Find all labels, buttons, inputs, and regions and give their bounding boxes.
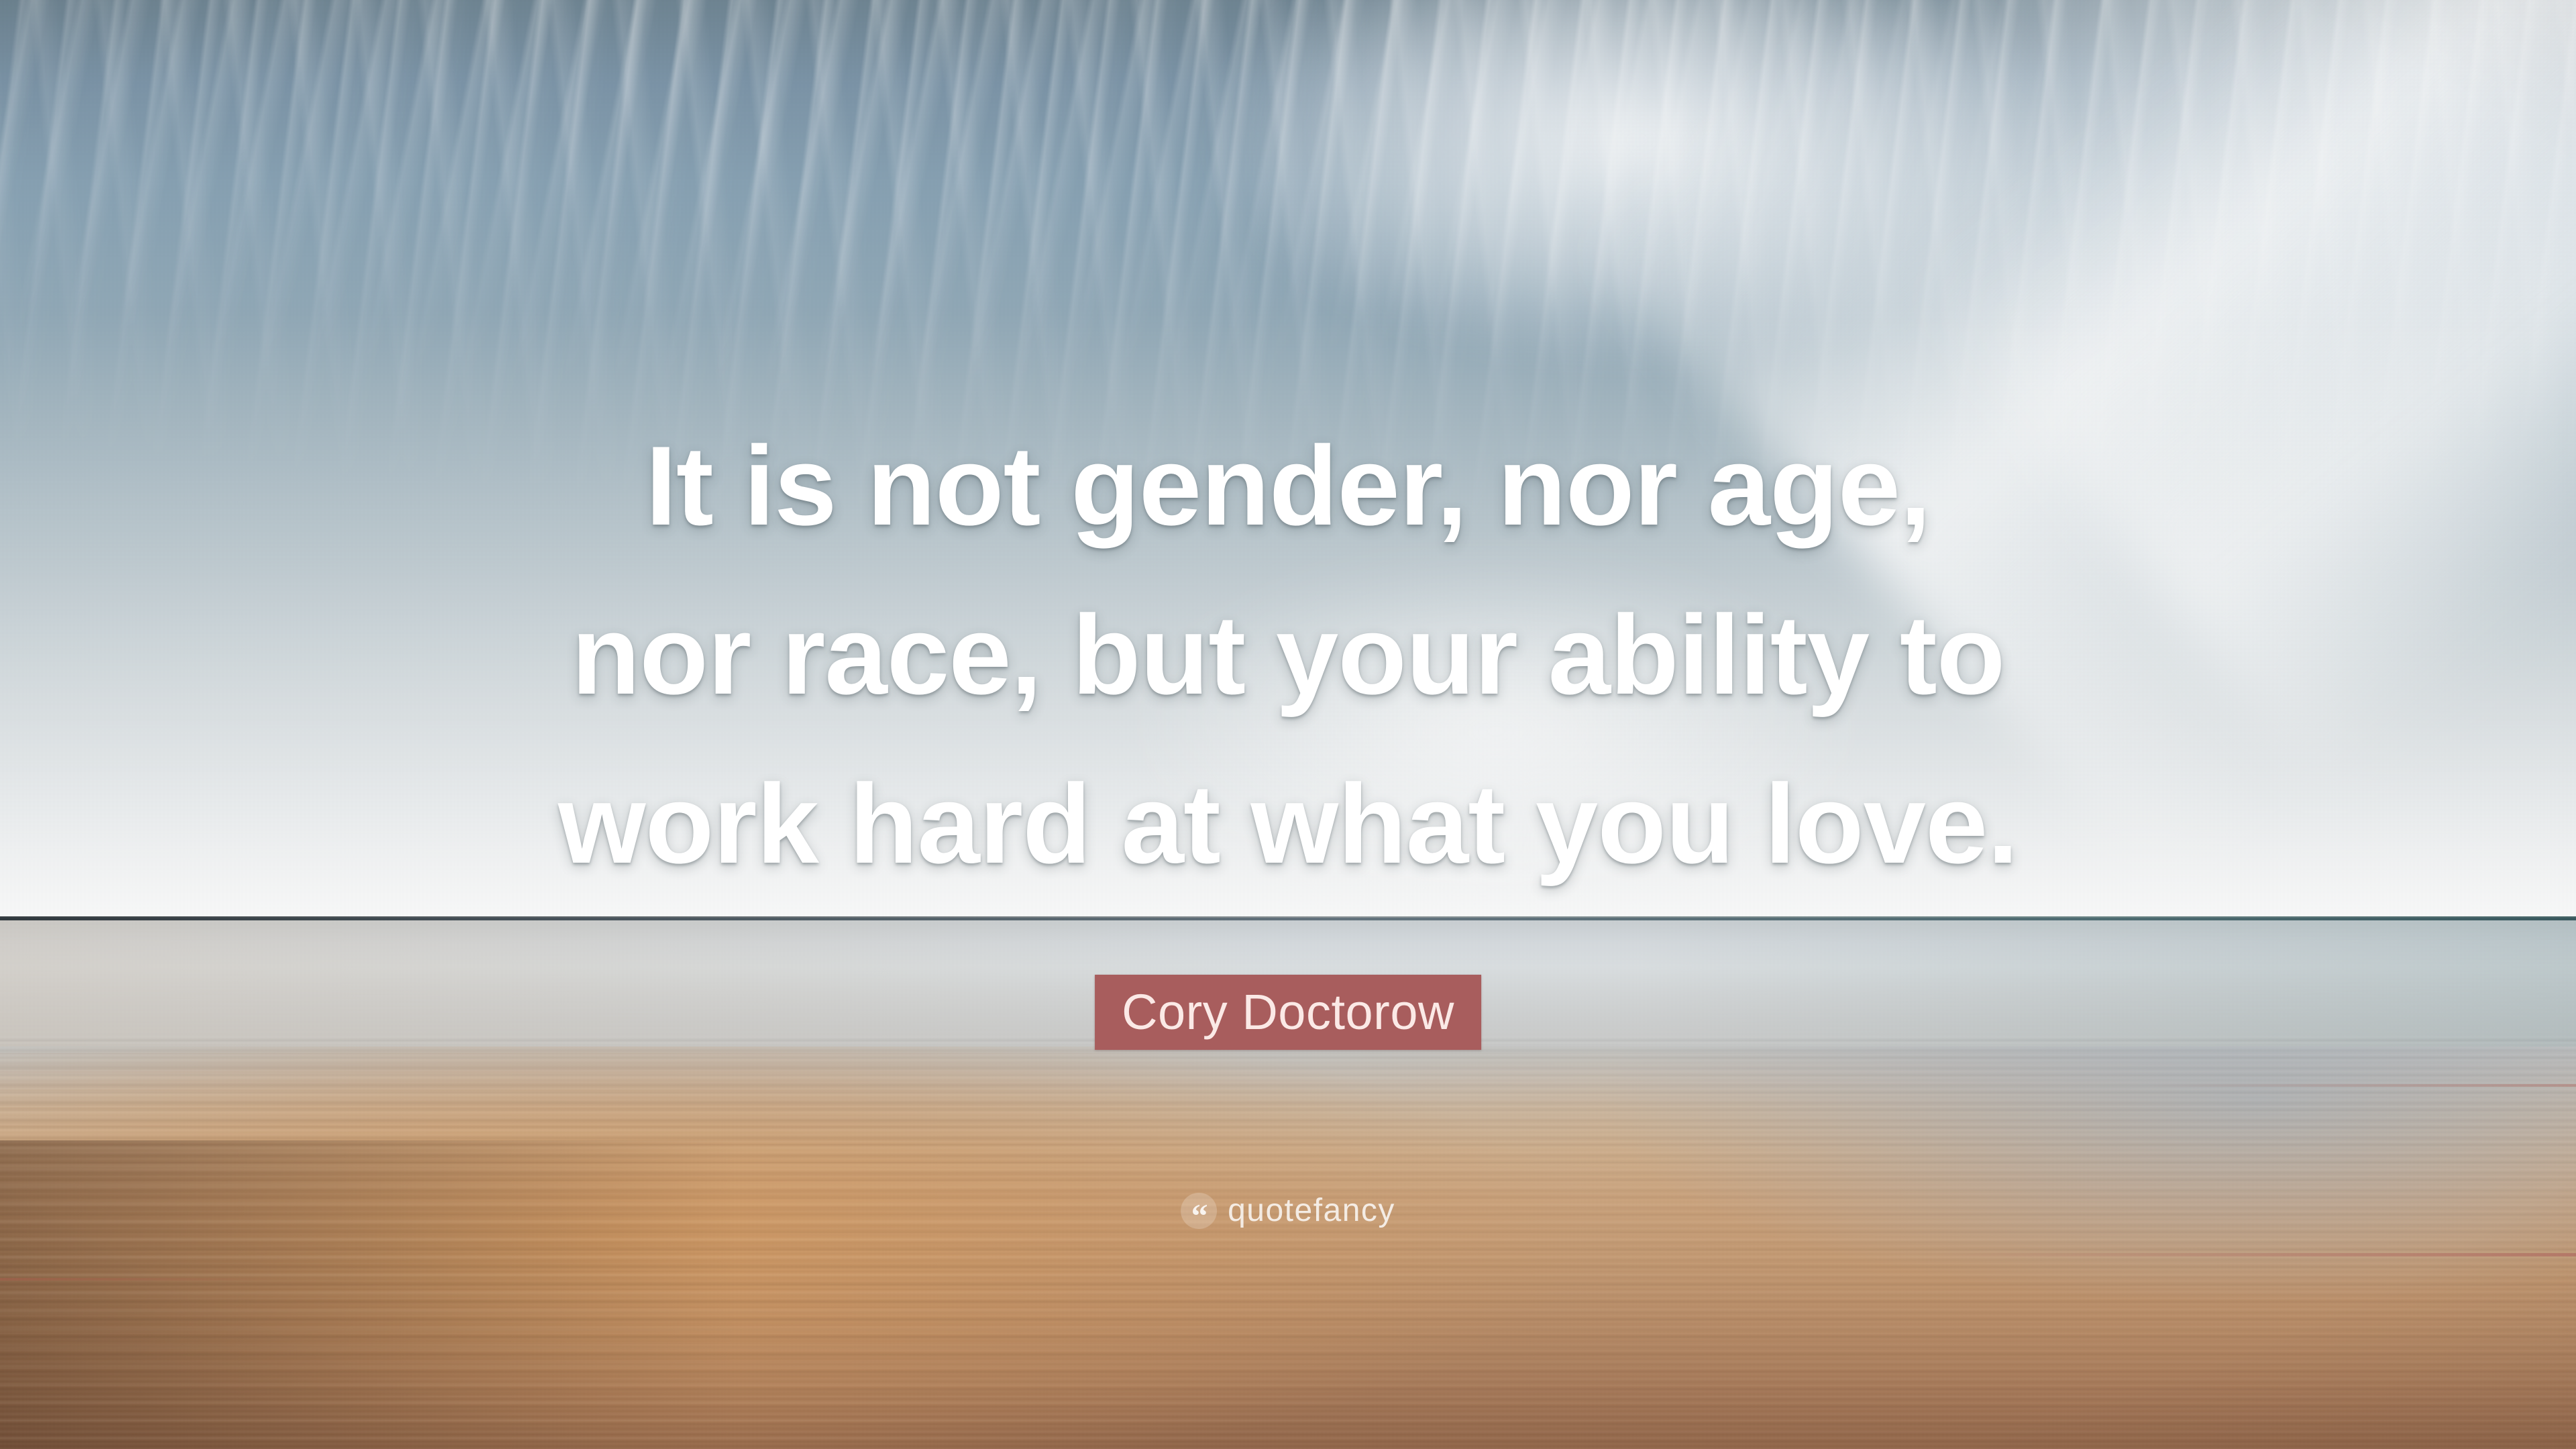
quote-text: It is not gender, nor age, nor race, but… [409,401,2167,908]
quote-line-3: work hard at what you love. [409,739,2167,908]
author-badge[interactable]: Cory Doctorow [1095,975,1481,1050]
sand-red-streak-left [0,1278,282,1281]
author-name: Cory Doctorow [1122,987,1454,1037]
quote-line-1: It is not gender, nor age, [409,401,2167,570]
motion-blur-streaks-long [0,1053,2576,1449]
quote-poster: It is not gender, nor age, nor race, but… [0,0,2576,1449]
quotefancy-watermark[interactable]: “ quotefancy [1181,1193,1395,1229]
quote-line-2: nor race, but your ability to [409,570,2167,739]
quotefancy-brand-label: quotefancy [1228,1195,1395,1227]
sand-red-streak-upper [2147,1084,2576,1087]
quote-mark-icon: “ [1181,1193,1217,1229]
sand-red-streak [1919,1253,2576,1256]
